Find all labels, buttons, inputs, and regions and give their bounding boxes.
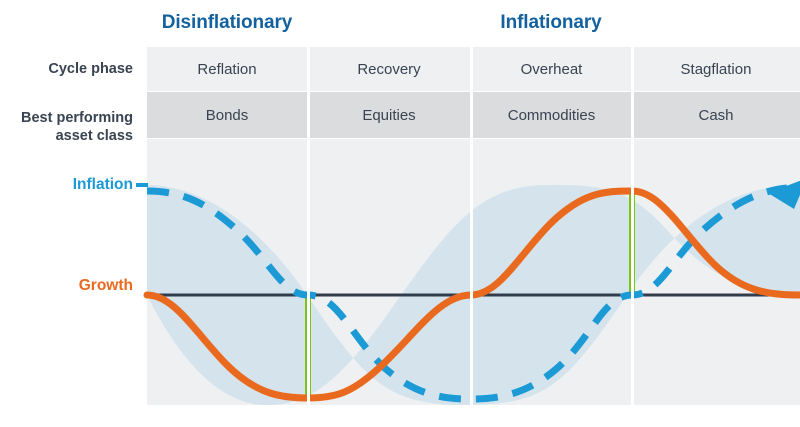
row-label-cycle-phase: Cycle phase bbox=[0, 61, 133, 79]
regime-header-disinflationary: Disinflationary bbox=[147, 12, 307, 34]
cycle-chart bbox=[147, 155, 800, 405]
column-divider-3 bbox=[631, 47, 634, 405]
table-cell-asset-class-1: Equities bbox=[307, 92, 471, 138]
inflation-legend-dash-icon bbox=[136, 183, 148, 187]
row-label-line-2: asset class bbox=[0, 128, 133, 146]
table-cell-cycle-phase-2: Overheat bbox=[471, 47, 632, 91]
table-row: Reflation Recovery Overheat Stagflation bbox=[147, 47, 800, 91]
table-cell-cycle-phase-1: Recovery bbox=[307, 47, 471, 91]
series-label-inflation: Inflation bbox=[0, 176, 133, 194]
table-row: Bonds Equities Commodities Cash bbox=[147, 92, 800, 138]
investment-clock-figure: Disinflationary Inflationary Cycle phase… bbox=[0, 0, 800, 427]
row-label-best-performing-asset-class: Best performing asset class bbox=[0, 110, 133, 145]
table-cell-asset-class-2: Commodities bbox=[471, 92, 632, 138]
column-divider-1 bbox=[307, 47, 310, 405]
regime-header-inflationary: Inflationary bbox=[471, 12, 631, 34]
table-spacer-row bbox=[147, 139, 800, 155]
series-label-growth: Growth bbox=[0, 277, 133, 295]
table-cell-asset-class-3: Cash bbox=[632, 92, 800, 138]
phase-table: Reflation Recovery Overheat Stagflation … bbox=[147, 47, 800, 155]
table-cell-cycle-phase-0: Reflation bbox=[147, 47, 307, 91]
table-cell-asset-class-0: Bonds bbox=[147, 92, 307, 138]
column-divider-2 bbox=[470, 47, 473, 405]
row-label-line-1: Best performing bbox=[0, 110, 133, 128]
table-cell-cycle-phase-3: Stagflation bbox=[632, 47, 800, 91]
cycle-chart-svg bbox=[147, 155, 800, 405]
